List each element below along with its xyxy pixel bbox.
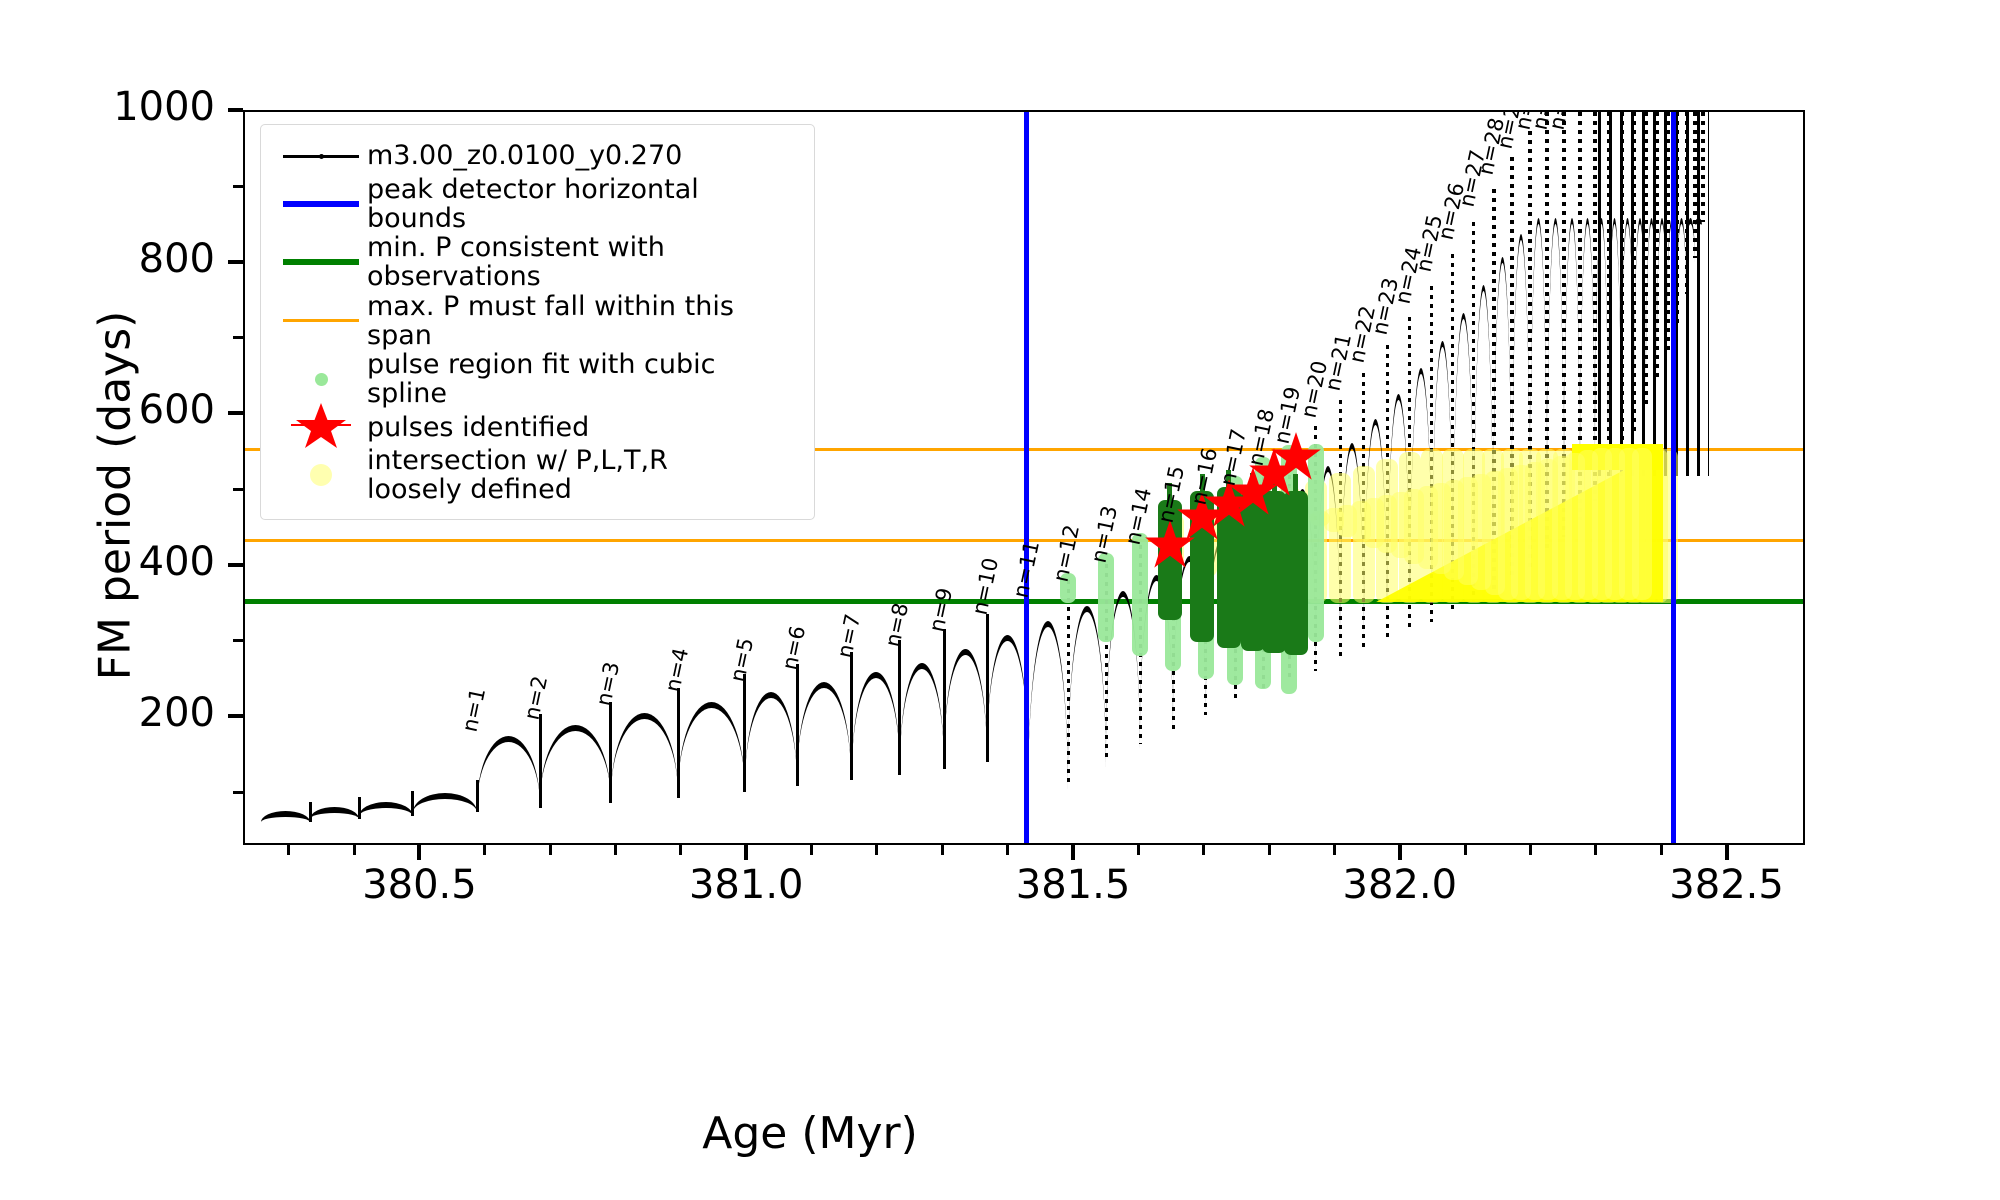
x-tick-label: 382.5 bbox=[1617, 862, 1837, 908]
legend-label: m3.00_z0.0100_y0.270 bbox=[367, 141, 682, 170]
green-line-marker bbox=[275, 245, 367, 279]
legend-entry-2[interactable]: min. P consistent with observations bbox=[275, 233, 800, 291]
x-tick-minor bbox=[353, 845, 356, 855]
legend-entry-4[interactable]: pulse region fit with cubic spline bbox=[275, 350, 800, 408]
x-tick-minor bbox=[1268, 845, 1271, 855]
x-tick-minor bbox=[287, 845, 290, 855]
y-tick-minor bbox=[233, 336, 243, 339]
pulse-label-n12: n=12 bbox=[1049, 522, 1084, 583]
marker-star bbox=[291, 402, 351, 452]
y-tick-minor bbox=[233, 488, 243, 491]
pulse-label-n11: n=11 bbox=[1008, 539, 1043, 600]
legend-label: pulse region fit with cubic spline bbox=[367, 350, 800, 408]
orange-line-marker bbox=[275, 304, 367, 338]
pulse-label-n13: n=13 bbox=[1086, 504, 1121, 565]
legend-entry-1[interactable]: peak detector horizontal bounds bbox=[275, 175, 800, 233]
track-arc bbox=[987, 635, 1028, 756]
legend-label: min. P consistent with observations bbox=[367, 233, 800, 291]
y-tick-major bbox=[228, 411, 243, 415]
track-arc bbox=[413, 793, 477, 813]
track-arc bbox=[477, 736, 540, 809]
pulse-label-n6: n=6 bbox=[778, 623, 811, 671]
x-axis-title: Age (Myr) bbox=[0, 1108, 2000, 1159]
x-tick-minor bbox=[679, 845, 682, 855]
y-tick-major bbox=[228, 108, 243, 112]
blue-line-marker bbox=[275, 187, 367, 221]
legend-label: max. P must fall within this span bbox=[367, 292, 800, 350]
figure-canvas: FM period (days) Age (Myr) 2004006008001… bbox=[0, 0, 2000, 1200]
track-arc bbox=[1028, 621, 1069, 800]
legend-entry-6[interactable]: intersection w/ P,L,T,Rloosely defined bbox=[275, 446, 800, 504]
marker-dot bbox=[315, 373, 328, 386]
x-tick-minor bbox=[875, 845, 878, 855]
track-arc bbox=[310, 807, 359, 820]
track-arc bbox=[611, 713, 678, 799]
x-tick-minor bbox=[1529, 845, 1532, 855]
y-tick-major bbox=[228, 260, 243, 264]
track-arc bbox=[852, 672, 900, 775]
x-tick-minor bbox=[483, 845, 486, 855]
pulse-label-n9: n=9 bbox=[925, 585, 958, 633]
legend-label-line2: loosely defined bbox=[367, 475, 668, 504]
marker-dot bbox=[310, 464, 332, 486]
x-tick-minor bbox=[1594, 845, 1597, 855]
track-arc bbox=[678, 702, 745, 794]
pulse-label-n3: n=3 bbox=[592, 660, 625, 708]
y-tick-major bbox=[228, 714, 243, 718]
x-tick-minor bbox=[1660, 845, 1663, 855]
x-tick-minor bbox=[1202, 845, 1205, 855]
legend-label: peak detector horizontal bounds bbox=[367, 175, 800, 233]
x-tick-major bbox=[1398, 845, 1402, 860]
legend-entry-0[interactable]: m3.00_z0.0100_y0.270 bbox=[275, 137, 800, 175]
x-tick-minor bbox=[1333, 845, 1336, 855]
spline-fit-column bbox=[1098, 553, 1114, 642]
legend-entry-5[interactable]: pulses identified bbox=[275, 408, 800, 446]
track-arc bbox=[944, 649, 987, 763]
x-tick-minor bbox=[1464, 845, 1467, 855]
red-star-marker bbox=[275, 410, 367, 444]
line-sample bbox=[283, 259, 359, 265]
x-axis-title-text: Age (Myr) bbox=[702, 1108, 918, 1159]
y-tick-label: 600 bbox=[15, 387, 215, 433]
track-dense-band bbox=[1598, 112, 1709, 476]
track-arc bbox=[261, 811, 310, 823]
line-sample bbox=[283, 319, 359, 322]
x-tick-minor bbox=[1137, 845, 1140, 855]
track-arc bbox=[900, 663, 944, 770]
legend-label-line1: intersection w/ P,L,T,R bbox=[367, 446, 668, 475]
pulse-label-n10: n=10 bbox=[967, 556, 1002, 617]
x-tick-minor bbox=[614, 845, 617, 855]
x-tick-label: 382.0 bbox=[1290, 862, 1510, 908]
track-arc bbox=[745, 692, 797, 787]
y-tick-minor bbox=[233, 791, 243, 794]
x-tick-minor bbox=[549, 845, 552, 855]
x-tick-label: 380.5 bbox=[309, 862, 529, 908]
peak-detector-bound bbox=[1024, 112, 1029, 843]
y-tick-minor bbox=[233, 639, 243, 642]
peak-detector-bound bbox=[1671, 112, 1676, 843]
pulse-label-n7: n=7 bbox=[832, 612, 865, 660]
y-tick-label: 200 bbox=[15, 690, 215, 736]
track-arc bbox=[540, 725, 611, 805]
y-tick-minor bbox=[233, 185, 243, 188]
marker-dot bbox=[319, 154, 324, 159]
pulse-region-column bbox=[1284, 491, 1308, 655]
track-arc bbox=[797, 682, 851, 782]
legend-entry-3[interactable]: max. P must fall within this span bbox=[275, 292, 800, 350]
x-tick-major bbox=[1071, 845, 1075, 860]
x-tick-major bbox=[1725, 845, 1729, 860]
intersection-scatter-column bbox=[1329, 473, 1351, 603]
pulse-label-n8: n=8 bbox=[880, 600, 913, 648]
line-dot-marker bbox=[275, 139, 367, 173]
line-sample bbox=[283, 201, 359, 207]
x-tick-major bbox=[744, 845, 748, 860]
x-tick-minor bbox=[941, 845, 944, 855]
pulse-label-n1: n=1 bbox=[458, 686, 491, 734]
x-tick-major bbox=[417, 845, 421, 860]
track-arc bbox=[359, 802, 413, 817]
pulse-label-n5: n=5 bbox=[725, 635, 758, 683]
y-tick-label: 1000 bbox=[15, 84, 215, 130]
line-sample bbox=[283, 155, 359, 158]
x-tick-minor bbox=[1006, 845, 1009, 855]
green-dot-marker bbox=[275, 362, 367, 396]
legend-label: pulses identified bbox=[367, 413, 589, 442]
x-tick-label: 381.5 bbox=[963, 862, 1183, 908]
yellow-dot-marker bbox=[275, 458, 367, 492]
y-tick-label: 800 bbox=[15, 236, 215, 282]
y-tick-major bbox=[228, 563, 243, 567]
pulse-label-n4: n=4 bbox=[660, 646, 693, 694]
legend-label: intersection w/ P,L,T,Rloosely defined bbox=[367, 446, 668, 504]
intersection-scatter-dots bbox=[1632, 448, 1652, 600]
y-tick-label: 400 bbox=[15, 539, 215, 585]
legend-box[interactable]: m3.00_z0.0100_y0.270peak detector horizo… bbox=[260, 124, 815, 520]
x-tick-minor bbox=[810, 845, 813, 855]
pulse-label-n2: n=2 bbox=[520, 673, 553, 721]
x-tick-label: 381.0 bbox=[636, 862, 856, 908]
